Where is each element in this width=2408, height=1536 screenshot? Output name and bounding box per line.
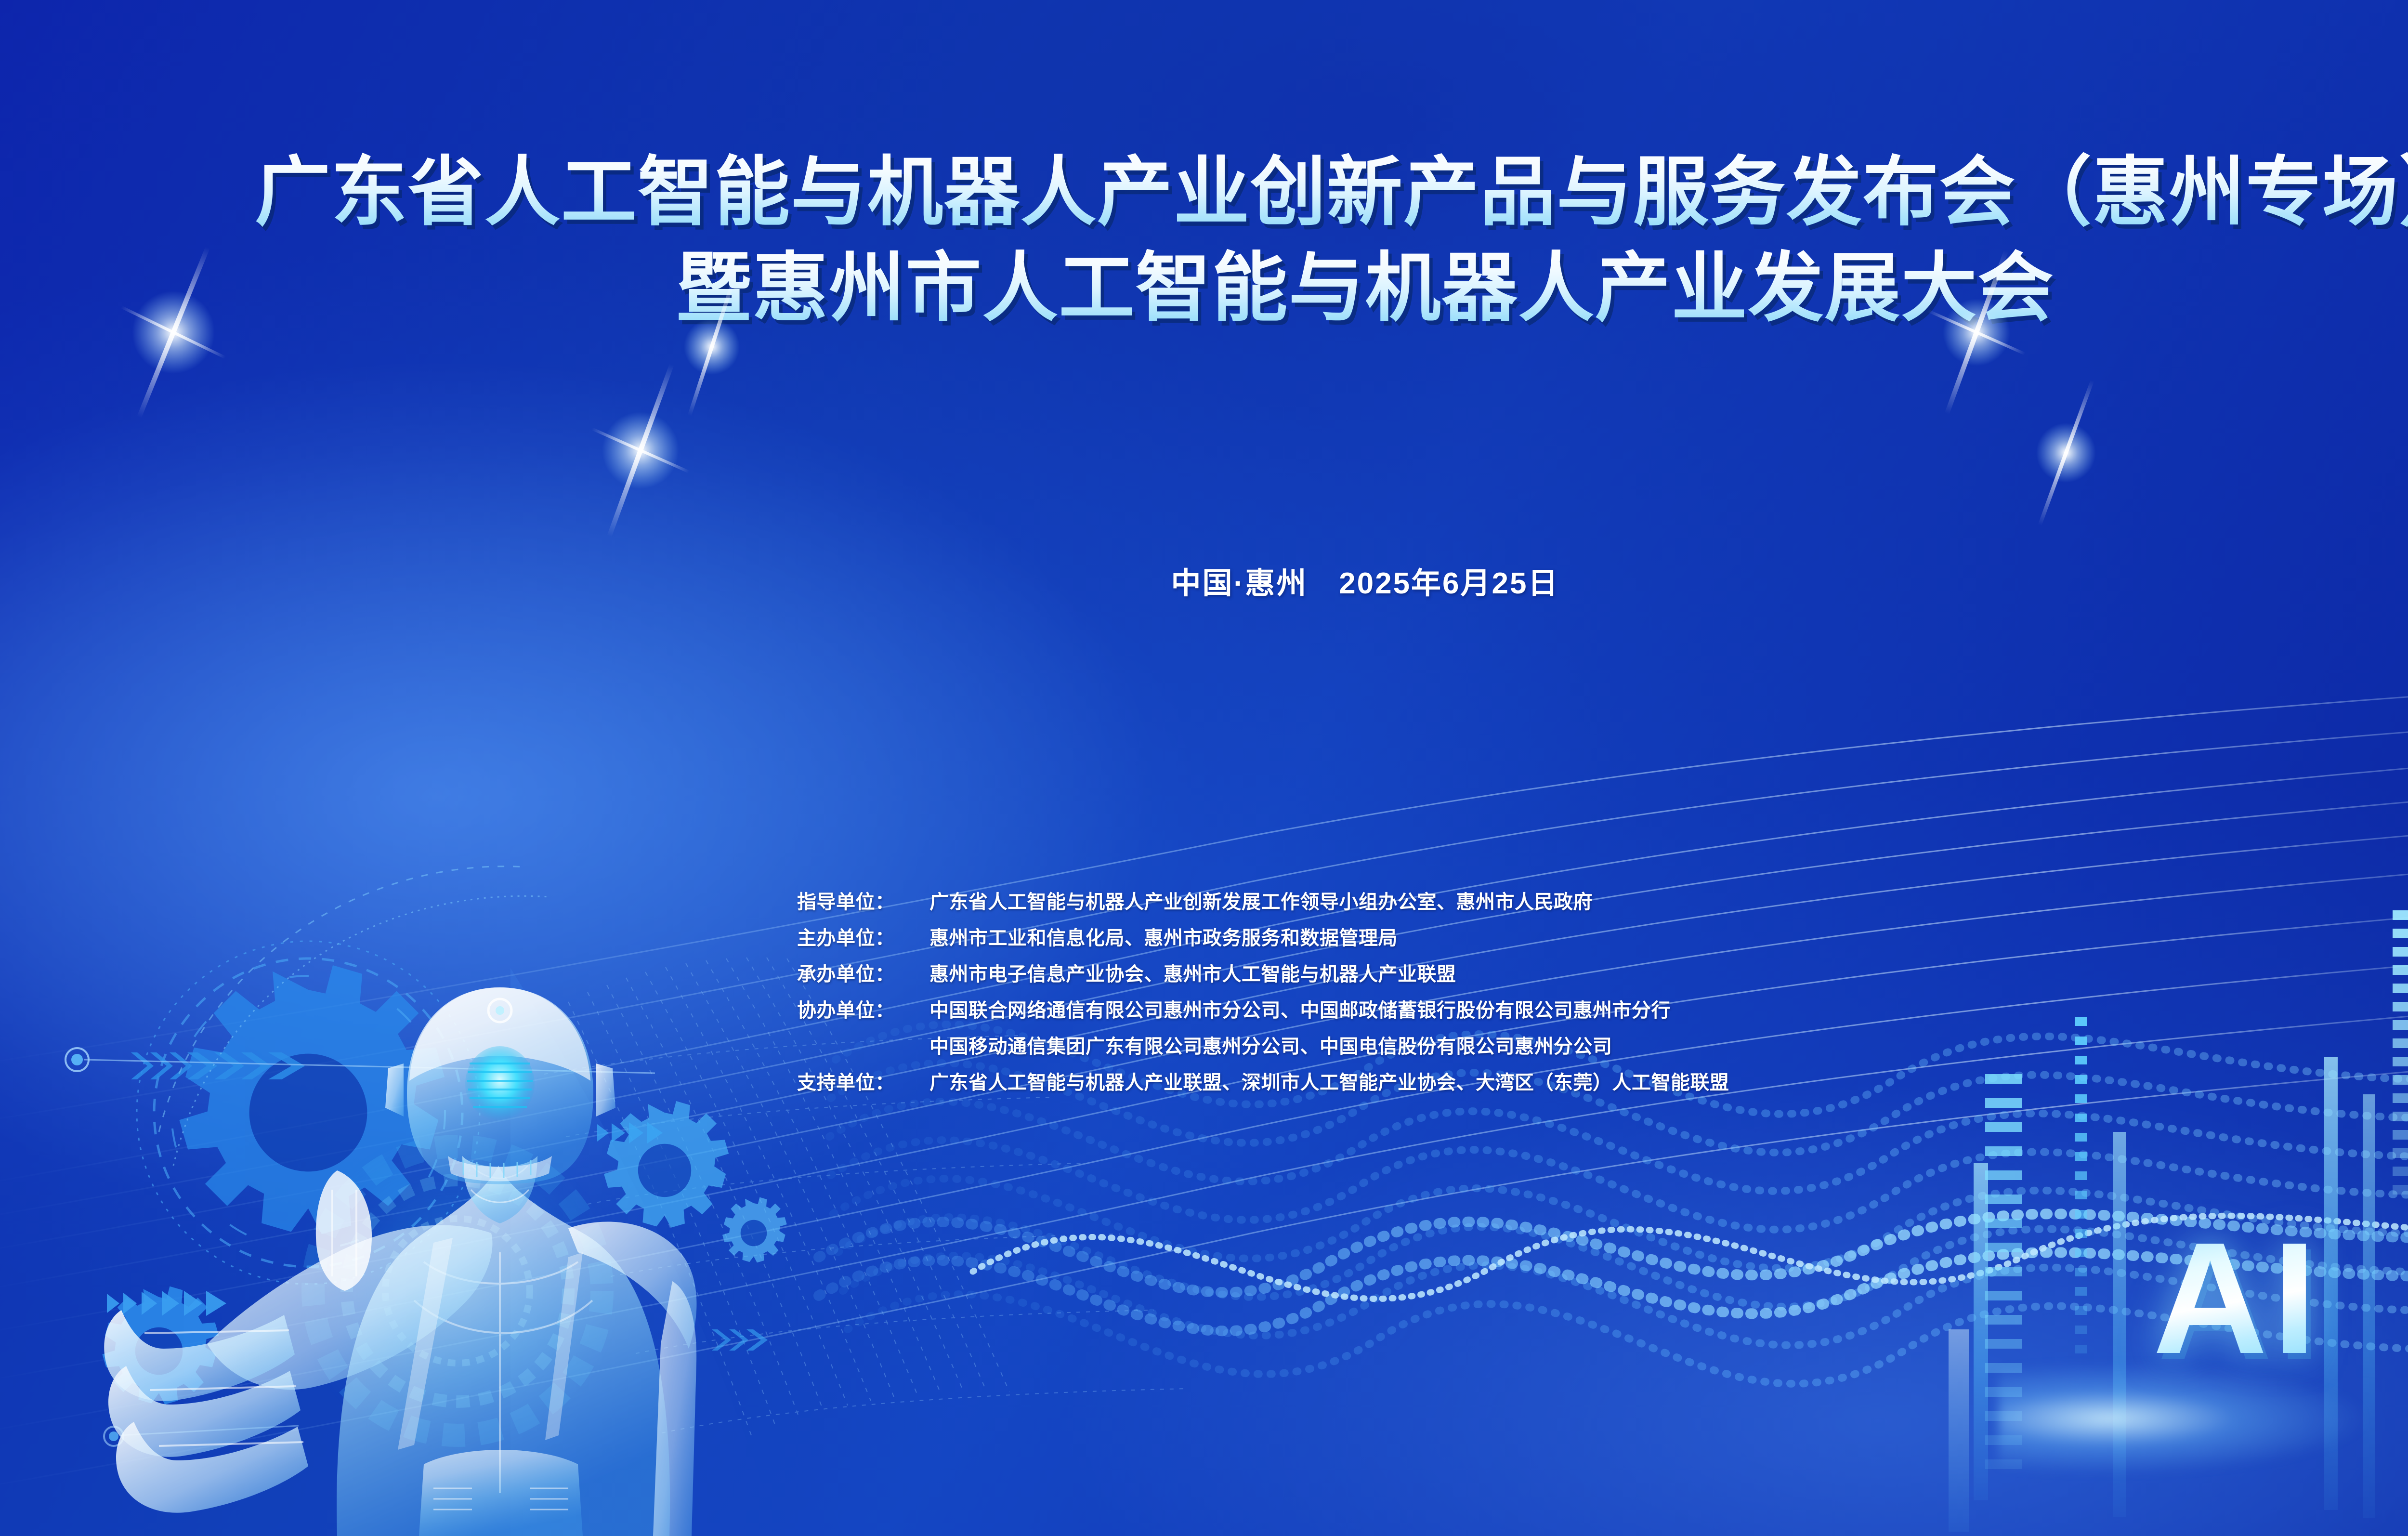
list-item-continuation: 协办单位： 中国移动通信集团广东有限公司惠州分公司、中国电信股份有限公司惠州分公… (797, 1031, 1729, 1067)
list-item: 主办单位： 惠州市工业和信息化局、惠州市政务服务和数据管理局 (797, 922, 1729, 958)
org-label: 主办单位： (797, 922, 929, 950)
org-value: 惠州市工业和信息化局、惠州市政务服务和数据管理局 (929, 922, 1398, 950)
title-line-1: 广东省人工智能与机器人产业创新产品与服务发布会（惠州专场） (0, 144, 2408, 240)
org-value: 广东省人工智能与机器人产业联盟、深圳市人工智能产业协会、大湾区（东莞）人工智能联… (929, 1067, 1729, 1095)
org-value: 广东省人工智能与机器人产业创新发展工作领导小组办公室、惠州市人民政府 (929, 886, 1593, 914)
org-value: 中国联合网络通信有限公司惠州市分公司、中国邮政储蓄银行股份有限公司惠州市分行 (929, 995, 1671, 1023)
conference-backdrop: 广东省人工智能与机器人产业创新产品与服务发布会（惠州专场） 暨惠州市人工智能与机… (0, 0, 2408, 1536)
page-title: 广东省人工智能与机器人产业创新产品与服务发布会（惠州专场） 暨惠州市人工智能与机… (0, 144, 2408, 337)
org-label: 承办单位： (797, 958, 929, 986)
org-label: 指导单位： (797, 886, 929, 914)
org-value: 中国移动通信集团广东有限公司惠州分公司、中国电信股份有限公司惠州分公司 (929, 1031, 1612, 1059)
list-item: 指导单位： 广东省人工智能与机器人产业创新发展工作领导小组办公室、惠州市人民政府 (797, 886, 1729, 922)
org-value: 惠州市电子信息产业协会、惠州市人工智能与机器人产业联盟 (929, 958, 1456, 986)
organizations-list: 指导单位： 广东省人工智能与机器人产业创新发展工作领导小组办公室、惠州市人民政府… (797, 886, 1729, 1103)
org-label: 支持单位： (797, 1067, 929, 1095)
list-item: 协办单位： 中国联合网络通信有限公司惠州市分公司、中国邮政储蓄银行股份有限公司惠… (797, 995, 1729, 1031)
ai-wordmark: AI (2153, 1219, 2321, 1378)
list-item: 支持单位： 广东省人工智能与机器人产业联盟、深圳市人工智能产业协会、大湾区（东莞… (797, 1067, 1729, 1103)
list-item: 承办单位： 惠州市电子信息产业协会、惠州市人工智能与机器人产业联盟 (797, 958, 1729, 995)
title-line-2: 暨惠州市人工智能与机器人产业发展大会 (0, 240, 2408, 336)
subtitle-location-date: 中国·惠州 2025年6月25日 (0, 559, 2408, 602)
org-label: 协办单位： (797, 995, 929, 1023)
